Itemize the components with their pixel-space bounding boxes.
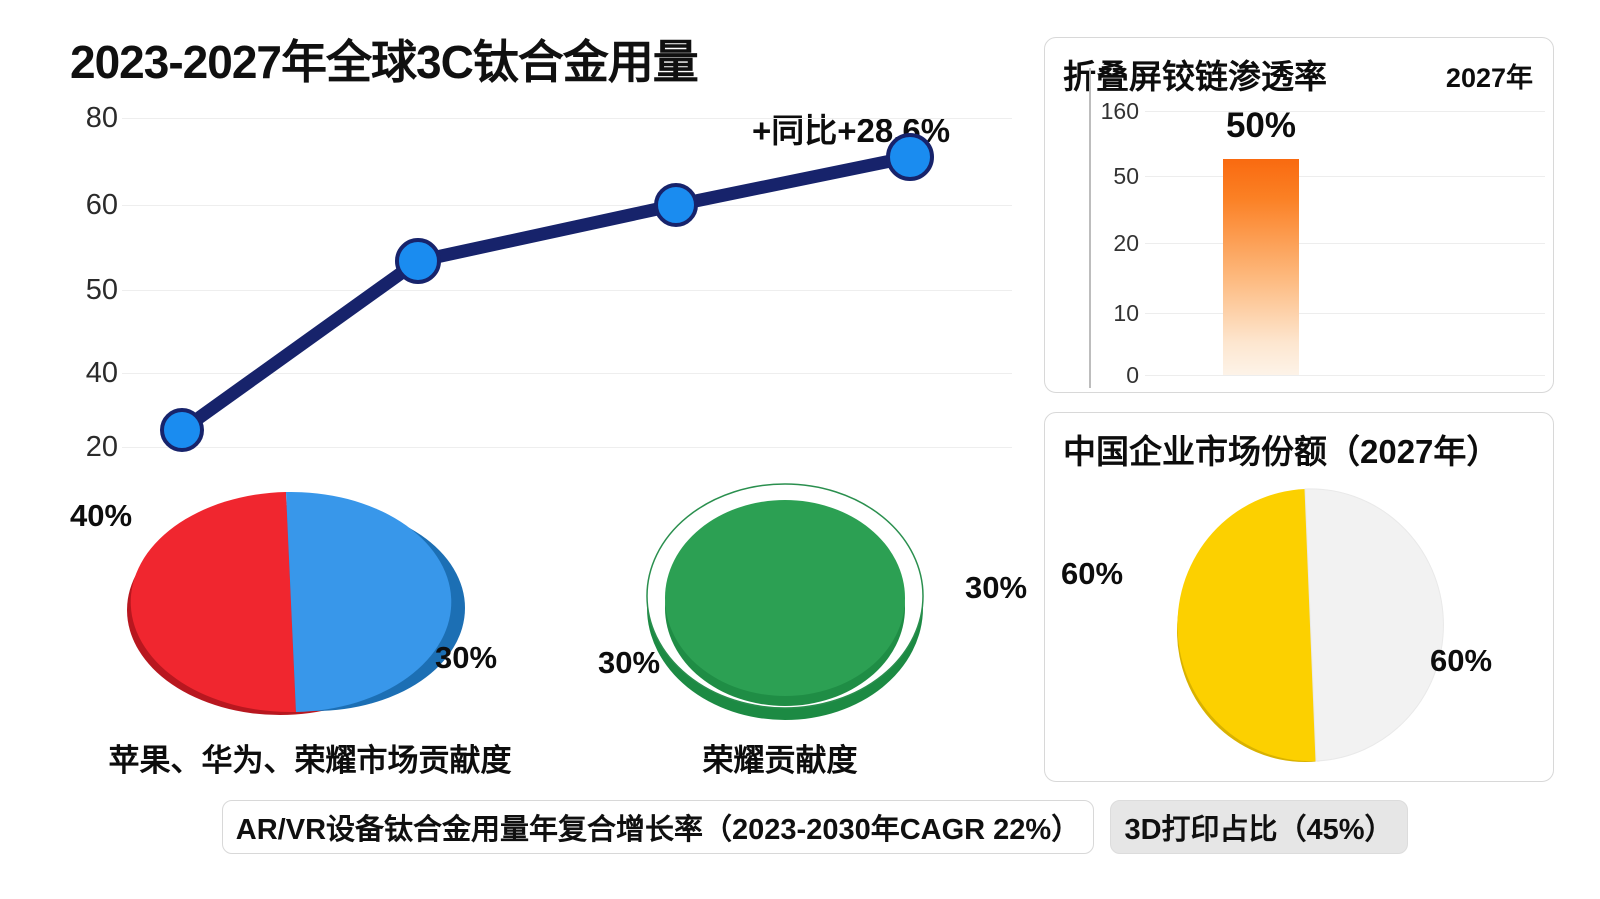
badge-3d-printing-share[interactable]: 3D打印占比（45%） (1110, 800, 1408, 854)
data-point-4[interactable] (888, 135, 932, 179)
line-chart-panel: 2023-2027年全球3C钛合金用量 +同比+28.6% 80 60 50 4… (0, 0, 1030, 470)
pie-chart-market-share-svg (1140, 471, 1470, 771)
card-title-market-share: 中国企业市场份额（2027年） (1063, 425, 1499, 473)
pie-caption-honor: 荣耀贡献度 (620, 735, 940, 780)
pie-chart-contribution[interactable]: 40% 30% (100, 480, 520, 730)
line-series-path (182, 157, 910, 430)
pie-slice-honor-full[interactable] (665, 500, 905, 696)
bar-value-label: 50% (1205, 106, 1317, 146)
data-point-1[interactable] (162, 410, 202, 450)
pie-label-40: 40% (70, 498, 132, 534)
pie-label-honor-left: 30% (598, 645, 660, 681)
pie-label-china-left: 60% (1061, 556, 1123, 592)
bar-y-tick-0: 0 (1083, 362, 1139, 389)
bar-hinge-penetration[interactable] (1223, 159, 1299, 375)
pie-chart-honor[interactable]: 30% 30% (580, 480, 980, 730)
pie-label-honor-right: 30% (965, 570, 1027, 606)
pie-chart-honor-svg (580, 480, 980, 730)
badge-arvr-cagr[interactable]: AR/VR设备钛合金用量年复合增长率（2023-2030年CAGR 22%） (222, 800, 1094, 854)
bar-y-tick-10: 10 (1083, 300, 1139, 327)
pie-slice-other[interactable] (1305, 489, 1443, 761)
data-point-3[interactable] (656, 185, 696, 225)
data-point-2[interactable] (397, 240, 439, 282)
bar-gridline-20 (1145, 243, 1545, 244)
badge-arvr-cagr-label: AR/VR设备钛合金用量年复合增长率（2023-2030年CAGR 22%） (236, 806, 1080, 848)
bar-y-tick-20: 20 (1083, 230, 1139, 257)
pie-caption-contribution: 苹果、华为、荣耀市场贡献度 (60, 735, 560, 780)
bar-y-tick-160: 160 (1083, 98, 1139, 125)
bar-y-tick-50: 50 (1083, 163, 1139, 190)
bar-gridline-0 (1145, 375, 1545, 376)
card-year-label: 2027年 (1446, 56, 1533, 95)
bar-gridline-10 (1145, 313, 1545, 314)
card-title-hinge: 折叠屏铰链渗透率 (1063, 50, 1327, 98)
pie-label-china-right: 60% (1430, 643, 1492, 679)
pie-label-30: 30% (435, 640, 497, 676)
line-series-svg (0, 0, 1030, 470)
pie-chart-contribution-svg (100, 480, 520, 730)
card-china-market-share[interactable]: 中国企业市场份额（2027年） 60% 60% (1044, 412, 1554, 782)
card-hinge-penetration[interactable]: 折叠屏铰链渗透率 2027年 160 50 20 10 0 50% (1044, 37, 1554, 393)
bar-gridline-50 (1145, 176, 1545, 177)
pie-slice-honor[interactable] (286, 492, 451, 712)
pie-slice-china[interactable] (1177, 489, 1316, 761)
infographic-canvas: 2023-2027年全球3C钛合金用量 +同比+28.6% 80 60 50 4… (0, 0, 1600, 899)
badge-3d-printing-share-label: 3D打印占比（45%） (1124, 806, 1393, 848)
pie-slice-apple-huawei[interactable] (131, 492, 296, 712)
